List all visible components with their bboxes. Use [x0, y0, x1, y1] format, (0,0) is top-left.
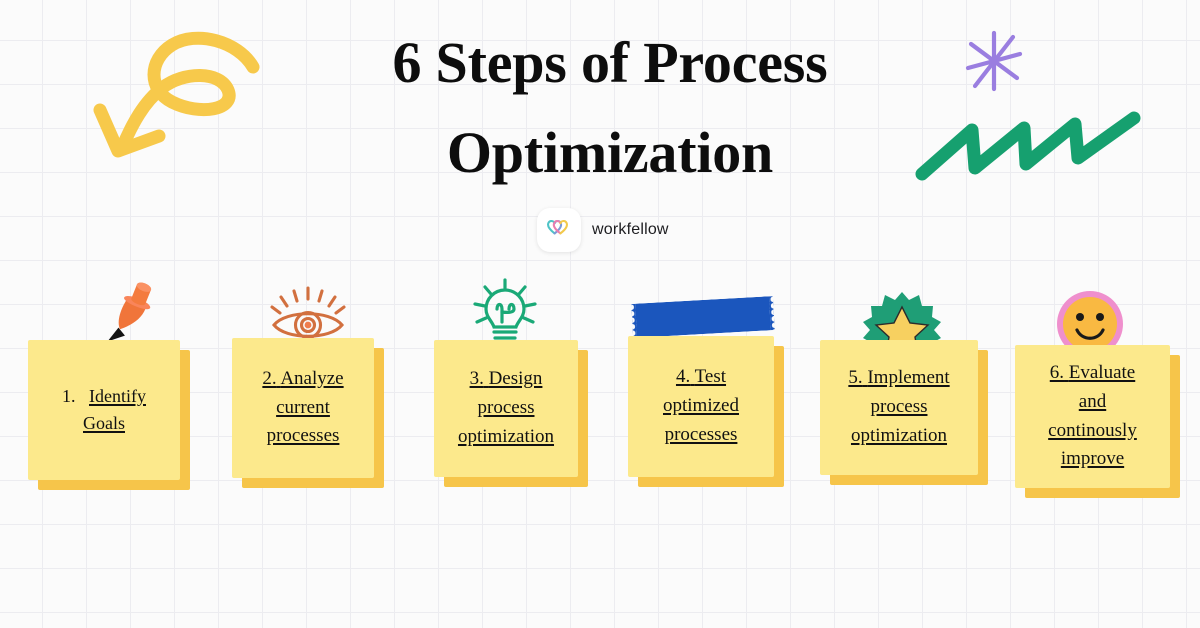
step-line: Analyze: [280, 368, 343, 389]
step-line: Goals: [83, 413, 125, 433]
step-note-4[interactable]: 4. Test optimized processes: [628, 336, 774, 477]
note-card: 6. Evaluate and continously improve: [1015, 345, 1170, 488]
step-note-1[interactable]: 1. Identify Goals: [28, 340, 180, 480]
infographic-canvas: 6 Steps of Process Optimization workfell…: [0, 0, 1200, 628]
step-line: continously: [1048, 420, 1137, 441]
step-note-5-text: 5. Implement process optimization: [828, 364, 970, 451]
step-number: 1.: [62, 386, 76, 406]
brand-lockup: workfellow: [537, 208, 669, 252]
step-line: optimization: [458, 426, 554, 447]
note-card: 5. Implement process optimization: [820, 340, 978, 475]
green-zigzag-line-icon: [912, 104, 1144, 191]
step-line: current: [276, 397, 330, 418]
purple-starburst-icon: [962, 28, 1026, 99]
step-line: Design: [489, 368, 543, 389]
step-note-6[interactable]: 6. Evaluate and continously improve: [1015, 345, 1170, 488]
step-note-3[interactable]: 3. Design process optimization: [434, 340, 578, 477]
page-title-line-2: Optimization: [300, 108, 920, 198]
step-note-2-text: 2. Analyze current processes: [240, 365, 366, 452]
brand-name: workfellow: [592, 221, 669, 239]
step-number: 3.: [470, 368, 484, 389]
step-line: processes: [665, 424, 738, 445]
step-line: Test: [695, 366, 726, 387]
workfellow-hearts-logo-icon: [546, 217, 572, 244]
step-line: processes: [267, 425, 340, 446]
step-line: Identify: [89, 386, 146, 406]
step-number: 5.: [848, 367, 862, 388]
blue-tape-icon: [631, 296, 775, 338]
brand-logo-badge: [537, 208, 581, 252]
step-note-1-text: 1. Identify Goals: [36, 383, 172, 438]
step-line: Evaluate: [1069, 362, 1135, 383]
step-number: 2.: [262, 368, 276, 389]
step-line: improve: [1061, 448, 1124, 469]
step-line: optimization: [851, 425, 947, 446]
page-title-line-1: 6 Steps of Process: [300, 18, 920, 108]
note-card: 1. Identify Goals: [28, 340, 180, 480]
step-line: and: [1079, 391, 1106, 412]
step-note-5[interactable]: 5. Implement process optimization: [820, 340, 978, 475]
step-number: 6.: [1050, 362, 1064, 383]
step-line: process: [871, 396, 928, 417]
step-line: Implement: [867, 367, 949, 388]
step-line: process: [478, 397, 535, 418]
yellow-looping-arrow-icon: [88, 18, 303, 183]
note-card: 4. Test optimized processes: [628, 336, 774, 477]
step-note-6-text: 6. Evaluate and continously improve: [1023, 359, 1162, 475]
note-card: 3. Design process optimization: [434, 340, 578, 477]
step-line: optimized: [663, 395, 739, 416]
page-title: 6 Steps of Process Optimization: [300, 18, 920, 198]
step-note-3-text: 3. Design process optimization: [442, 365, 570, 452]
step-note-4-text: 4. Test optimized processes: [636, 363, 766, 450]
step-number: 4.: [676, 366, 690, 387]
note-card: 2. Analyze current processes: [232, 338, 374, 478]
step-note-2[interactable]: 2. Analyze current processes: [232, 338, 374, 478]
